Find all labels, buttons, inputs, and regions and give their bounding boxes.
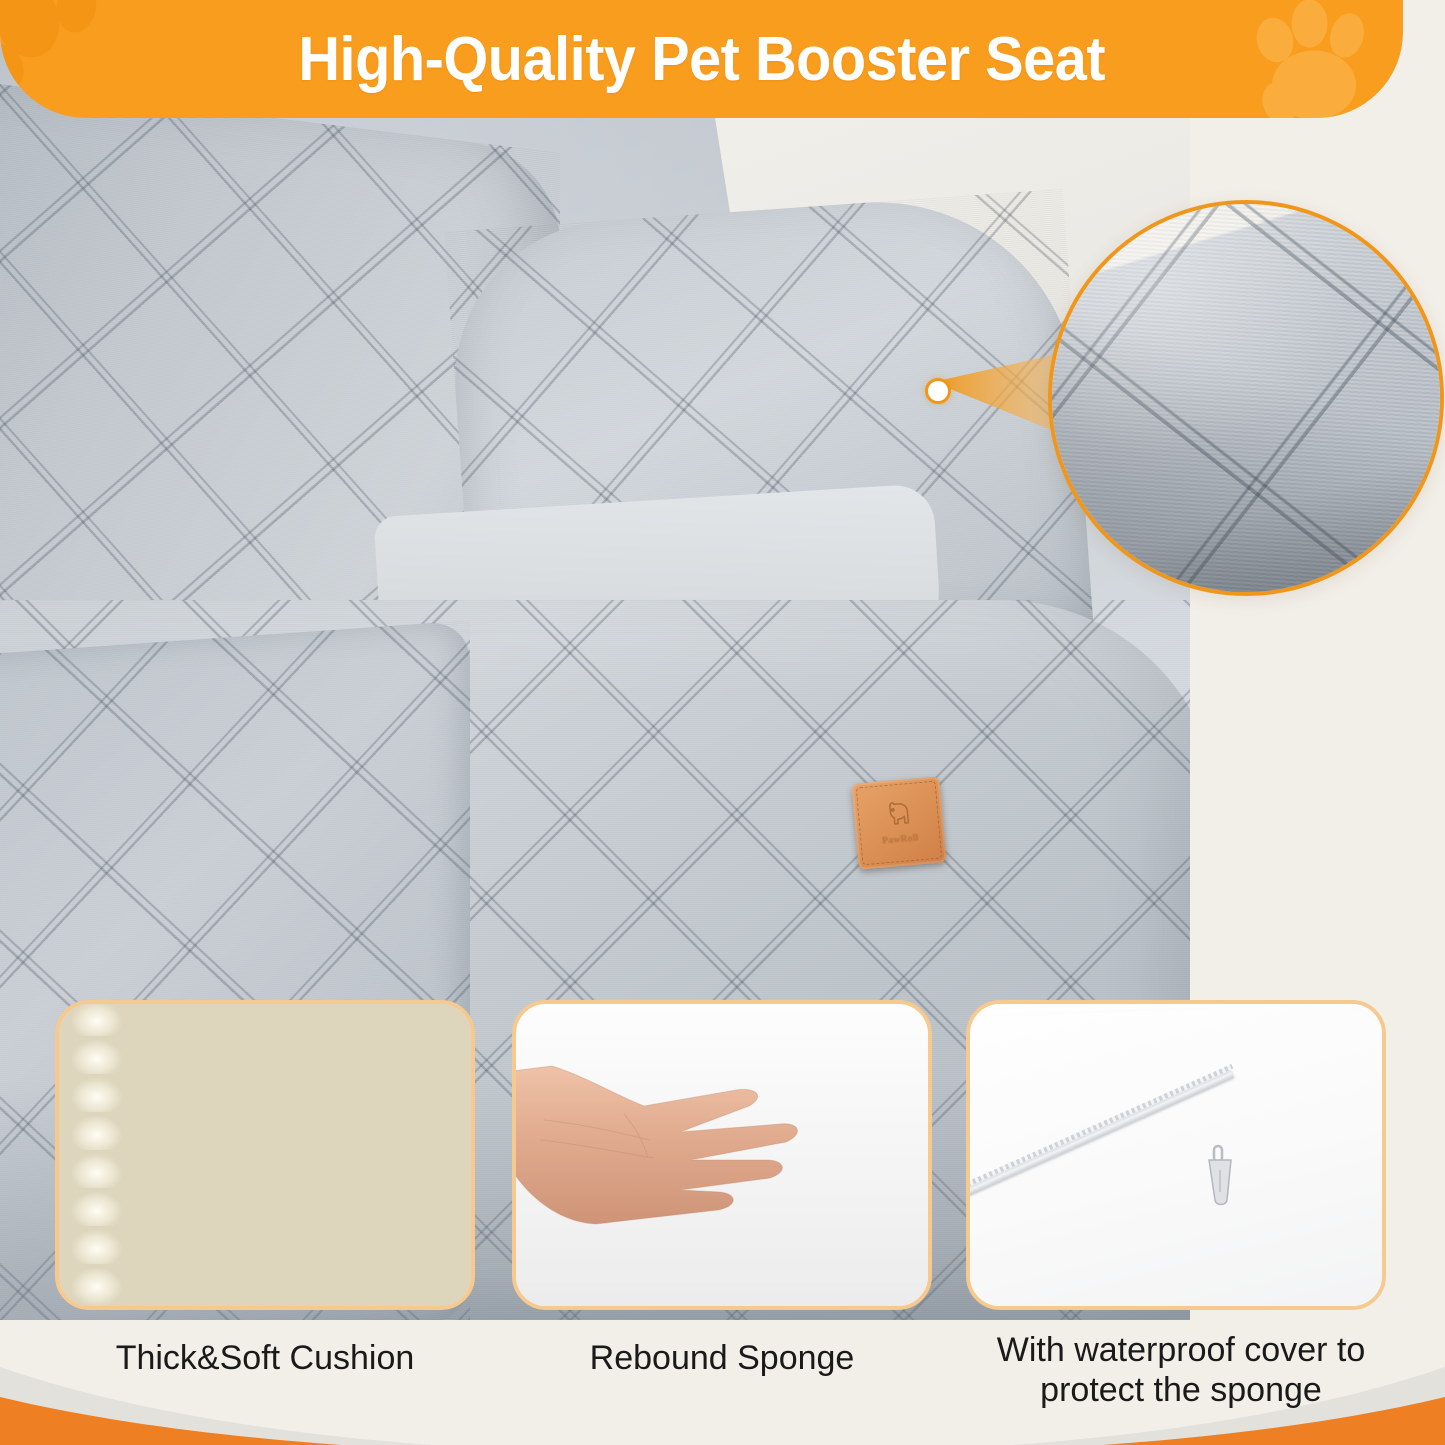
paw-print-icon (0, 0, 132, 118)
feature-caption-rebound-sponge: Rebound Sponge (512, 1338, 932, 1378)
feature-caption-waterproof-cover: With waterproof cover to protect the spo… (946, 1330, 1416, 1410)
egg-crate-foam-photo (59, 1004, 471, 1306)
caption-line-1: With waterproof cover to (946, 1330, 1416, 1370)
closeup-shading (1048, 200, 1444, 596)
closeup-photo (1048, 200, 1444, 596)
fabric-closeup-magnifier (1048, 200, 1444, 596)
product-infographic: PawRoll High-Qualit (0, 0, 1445, 1445)
brand-patch-label: PawRoll (882, 833, 919, 846)
feature-card-thick-soft-cushion[interactable] (55, 1000, 475, 1310)
hand-icon (512, 1062, 904, 1232)
page-title: High-Quality Pet Booster Seat (298, 24, 1105, 95)
magnifier-focus-dot (925, 378, 951, 404)
dog-silhouette-icon (880, 796, 917, 833)
paw-print-icon (1239, 0, 1389, 118)
brand-patch: PawRoll (851, 776, 946, 869)
feature-card-rebound-sponge[interactable] (512, 1000, 932, 1310)
zipper-pull-icon (1203, 1144, 1239, 1214)
caption-line-2: protect the sponge (946, 1370, 1416, 1410)
feature-caption-thick-soft-cushion: Thick&Soft Cushion (55, 1338, 475, 1378)
white-zipper-cover-photo (970, 1004, 1382, 1306)
feature-card-waterproof-cover[interactable] (966, 1000, 1386, 1310)
header-banner: High-Quality Pet Booster Seat (0, 0, 1403, 118)
